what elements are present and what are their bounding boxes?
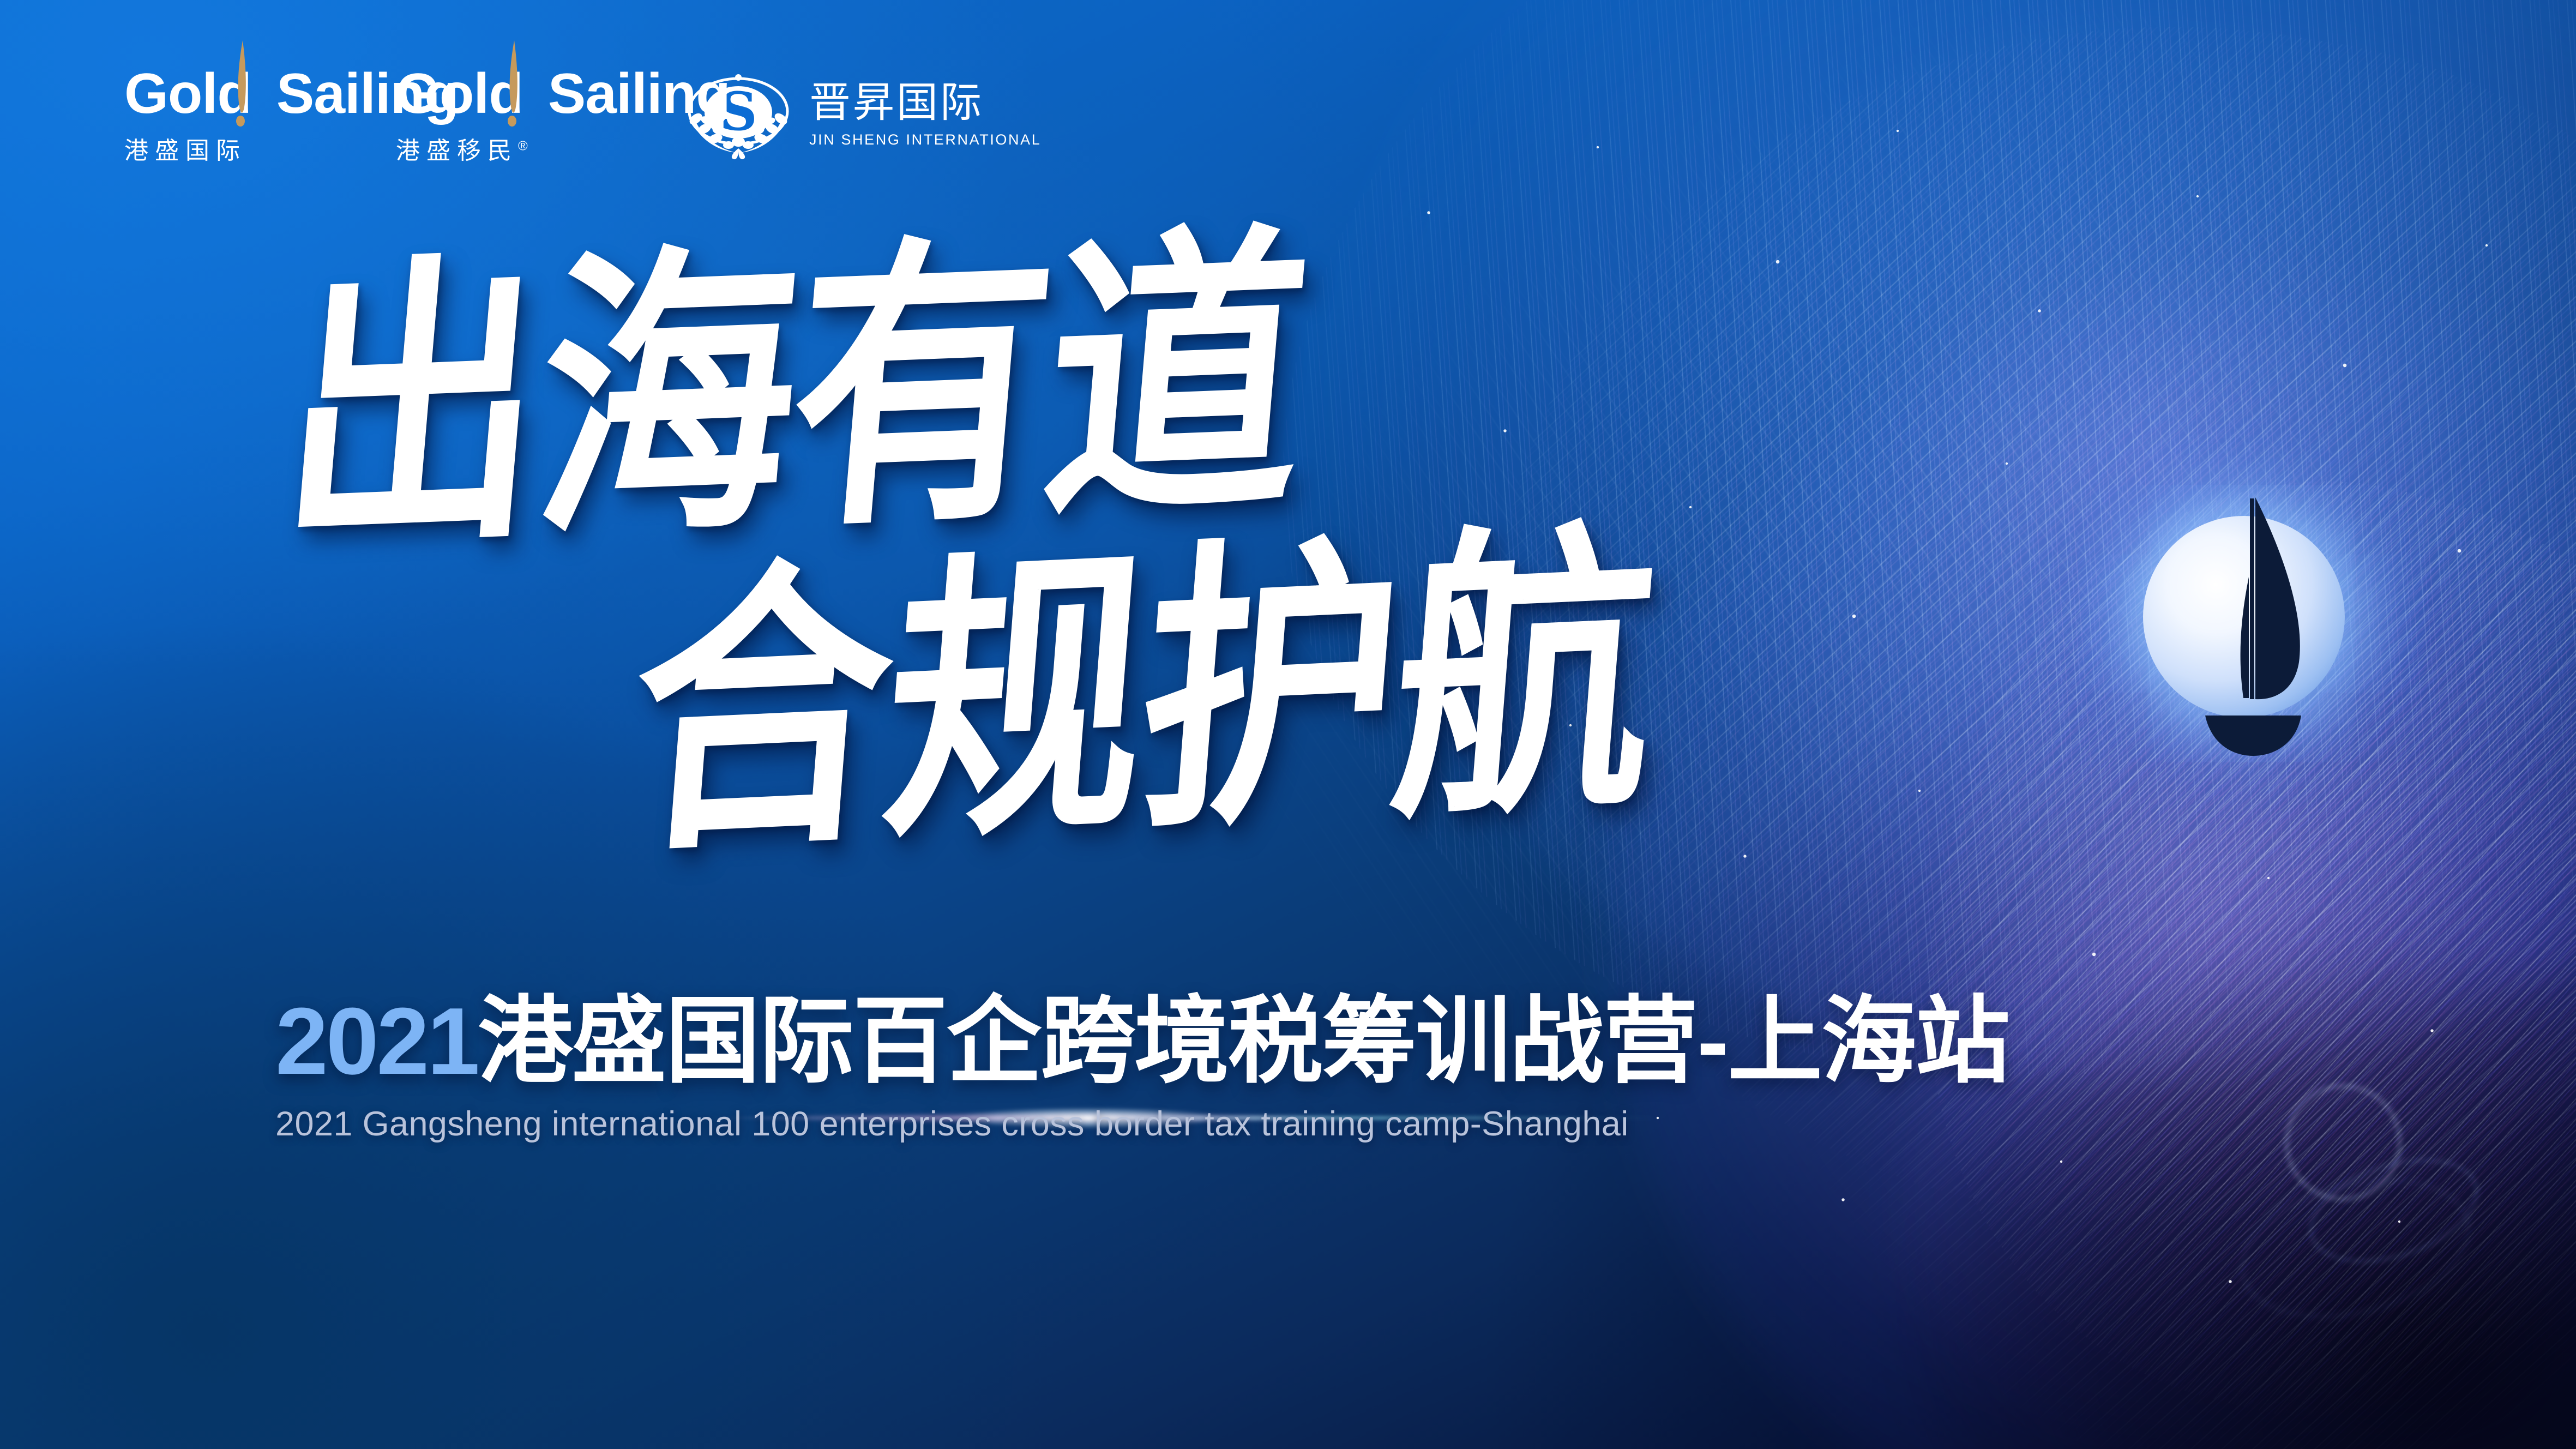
registered-trademark-icon: ® [518,139,528,153]
bokeh-ring-icon [2285,1084,2402,1201]
logo-chinese-name: 港盛国际 [124,131,381,166]
light-streak-bundle-lower [1706,303,2576,1449]
logo-bar: GoldSailing 港盛国际 GoldSailing [124,65,1041,166]
logo-gold-sailing-immigration[interactable]: GoldSailing 港盛移民® [396,65,652,166]
logo-jin-sheng-international[interactable]: S [682,69,1041,160]
logo-chinese-text: 港盛移民 [396,137,518,164]
bokeh-ellipse-outer-icon [2226,1157,2484,1339]
jin-sheng-chinese-name: 晋昇国际 [809,81,1041,125]
subtitle-english: 2021 Gangsheng international 100 enterpr… [275,1107,2009,1141]
bokeh-ellipse-icon [2297,1140,2491,1282]
jin-sheng-text-block: 晋昇国际 JIN SHENG INTERNATIONAL [809,81,1041,148]
logo-gold-sailing-international[interactable]: GoldSailing 港盛国际 [124,65,381,166]
sailboat-moon-artwork [2121,491,2405,774]
purple-glow-mass-middle [1609,284,2576,1449]
gold-sailing-wordmark: GoldSailing [124,65,381,122]
subtitle-chinese-text: 港盛国际百企跨境税筹训战营-上海站 [478,988,2009,1094]
logo-chinese-name: 港盛移民® [396,131,652,166]
subtitle-block: 2021港盛国际百企跨境税筹训战营-上海站 2021 Gangsheng int… [275,994,2009,1141]
wordmark-sailing: Sailing [548,62,730,125]
gold-sailing-wordmark: GoldSailing [396,65,652,122]
sail-accent-icon [503,39,521,129]
subtitle-year: 2021 [275,988,478,1094]
jin-sheng-english-name: JIN SHENG INTERNATIONAL [809,131,1041,148]
event-poster: GoldSailing 港盛国际 GoldSailing [0,0,2576,1449]
subtitle-chinese: 2021港盛国际百企跨境税筹训战营-上海站 [275,994,2009,1089]
sail-accent-icon [231,39,250,129]
logo-chinese-text: 港盛国际 [124,137,246,164]
